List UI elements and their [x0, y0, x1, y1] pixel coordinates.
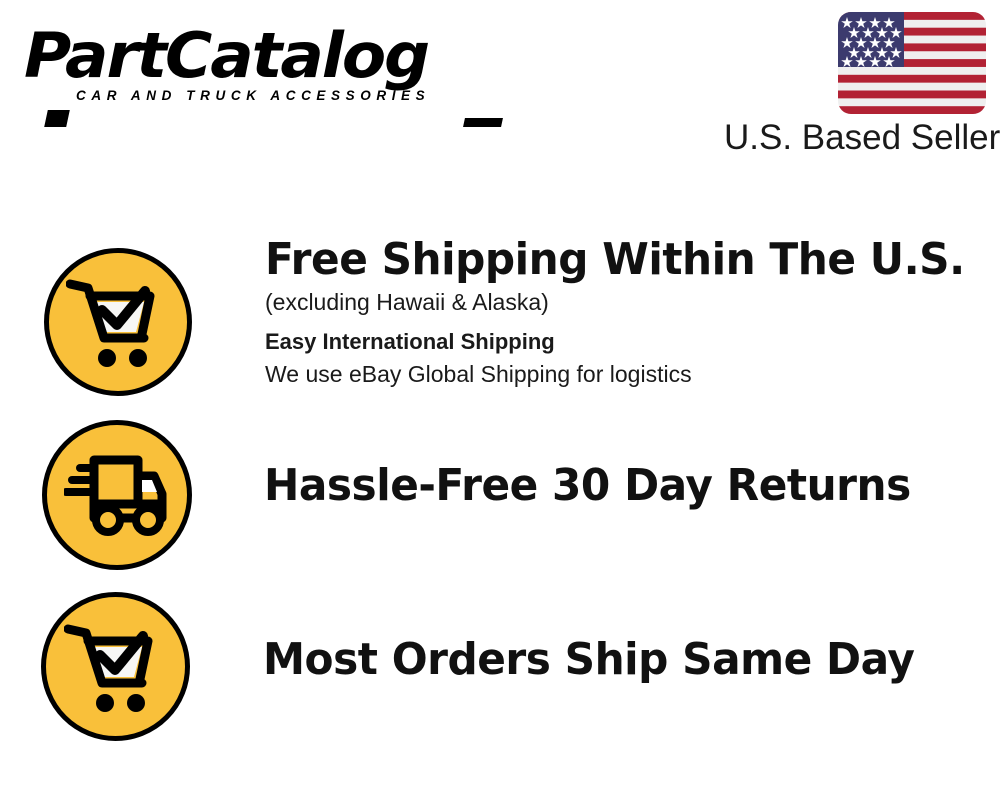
- feature-headline: Hassle-Free 30 Day Returns: [264, 461, 911, 511]
- feature-text-returns: Hassle-Free 30 Day Returns: [264, 461, 938, 511]
- logo-accent-right: [463, 118, 503, 127]
- brand-wordmark: PartCatalog: [24, 22, 513, 90]
- feature-row-returns: Hassle-Free 30 Day Returns: [42, 420, 938, 570]
- logo-accent-left: [44, 110, 70, 127]
- us-flag-icon: [838, 12, 986, 114]
- feature-text-free-shipping: Free Shipping Within The U.S. (excluding…: [265, 235, 994, 389]
- feature-headline: Most Orders Ship Same Day: [263, 635, 914, 685]
- shopping-cart-check-icon: [44, 248, 192, 396]
- brand-logo: PartCatalog CAR AND TRUCK ACCESSORIES: [24, 22, 494, 112]
- shipping-info-banner: PartCatalog CAR AND TRUCK ACCESSORIES: [0, 0, 1000, 800]
- feature-row-free-shipping: Free Shipping Within The U.S. (excluding…: [44, 248, 994, 396]
- feature-subnote-exclusions: (excluding Hawaii & Alaska): [265, 287, 994, 317]
- feature-headline: Free Shipping Within The U.S.: [265, 235, 965, 285]
- feature-subtitle-international: Easy International Shipping: [265, 327, 994, 357]
- delivery-truck-icon: [42, 420, 192, 570]
- seller-location-label: U.S. Based Seller: [724, 118, 986, 158]
- feature-subtext-logistics: We use eBay Global Shipping for logistic…: [265, 359, 994, 389]
- shopping-cart-check-icon: [41, 592, 190, 741]
- feature-text-same-day-ship: Most Orders Ship Same Day: [263, 635, 942, 685]
- feature-row-same-day-ship: Most Orders Ship Same Day: [41, 592, 942, 741]
